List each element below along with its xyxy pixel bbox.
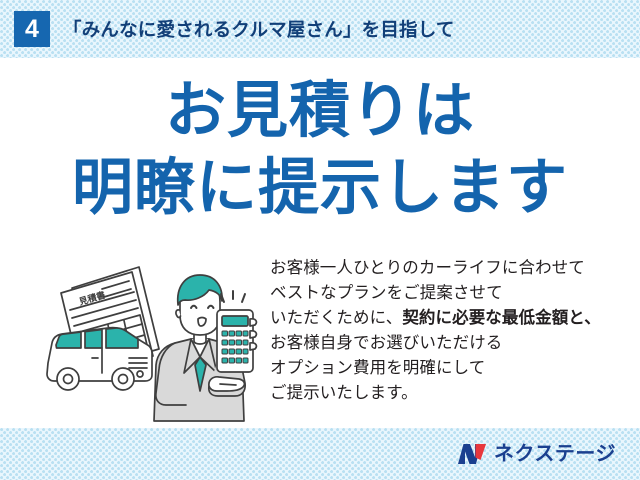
brand-logo: ネクステージ bbox=[457, 442, 616, 466]
footer-band: ネクステージ bbox=[0, 428, 640, 480]
body-line-1: お客様一人ひとりのカーライフに合わせて bbox=[270, 256, 620, 281]
sparkle-icon bbox=[221, 291, 245, 302]
body-line-3-plain: いただくために、 bbox=[270, 309, 402, 327]
headline-line-1: お見積りは bbox=[0, 80, 640, 141]
body-copy: お客様一人ひとりのカーライフに合わせて ベストなプランをご提案させて いただくた… bbox=[270, 256, 620, 406]
van bbox=[47, 328, 152, 390]
section-number-badge: 4 bbox=[14, 11, 50, 47]
body-line-6: ご提示いたします。 bbox=[270, 381, 620, 406]
body-line-5: オプション費用を明確にして bbox=[270, 356, 620, 381]
body-line-3: いただくために、契約に必要な最低金額と、 bbox=[270, 306, 620, 331]
body-line-4: お客様自身でお選びいただける bbox=[270, 331, 620, 356]
body-line-3-emphasis: 契約に必要な最低金額と、 bbox=[402, 309, 601, 327]
illustration-salesman-estimate: 見積書 bbox=[28, 253, 278, 423]
body-line-2: ベストなプランをご提案させて bbox=[270, 281, 620, 306]
header-title: 「みんなに愛されるクルマ屋さん」を目指して bbox=[63, 16, 455, 42]
calculator bbox=[217, 310, 256, 372]
nextage-n-mark-icon bbox=[457, 442, 487, 466]
brand-name: ネクステージ bbox=[494, 444, 616, 464]
headline: お見積りは 明瞭に提示します bbox=[0, 80, 640, 218]
main-content: お見積りは 明瞭に提示します お客様一人ひとりのカーライフに合わせて ベストなプ… bbox=[0, 58, 640, 428]
promo-slide: 4 「みんなに愛されるクルマ屋さん」を目指して お見積りは 明瞭に提示します お… bbox=[0, 0, 640, 480]
headline-line-2: 明瞭に提示します bbox=[0, 157, 640, 218]
header-band: 4 「みんなに愛されるクルマ屋さん」を目指して bbox=[0, 0, 640, 58]
